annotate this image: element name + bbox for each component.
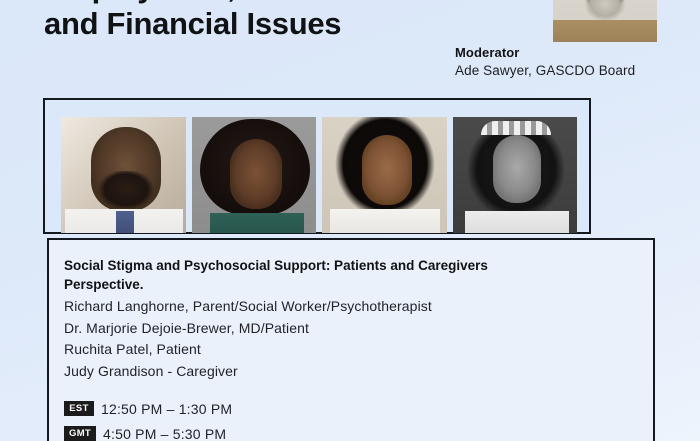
moderator-block: Moderator Ade Sawyer, GASCDO Board <box>455 0 700 92</box>
page-title-line-2: and Financial Issues <box>44 5 514 42</box>
timezone-list: EST 12:50 PM – 1:30 PM GMT 4:50 PM – 5:3… <box>64 398 653 441</box>
moderator-collar-shape <box>553 20 657 42</box>
speaker-list: Richard Langhorne, Parent/Social Worker/… <box>64 296 653 382</box>
portrait-4-coat-shape <box>465 211 569 233</box>
portrait-4-headband-shape <box>481 121 551 135</box>
timezone-row: EST 12:50 PM – 1:30 PM <box>64 398 653 419</box>
timezone-badge-est: EST <box>64 401 94 416</box>
timezone-badge-gmt: GMT <box>64 426 96 441</box>
page-title: Employment, Education and Financial Issu… <box>44 0 514 42</box>
timezone-value-est: 12:50 PM – 1:30 PM <box>101 401 232 417</box>
portrait-2-face-shape <box>230 139 282 209</box>
panelist-photo-strip <box>61 117 577 233</box>
speaker-item: Judy Grandison - Caregiver <box>64 361 653 383</box>
session-title: Social Stigma and Psychosocial Support: … <box>64 256 534 294</box>
portrait-3-face-shape <box>362 135 412 205</box>
moderator-photo <box>553 0 657 42</box>
moderator-role-label: Moderator <box>455 45 519 60</box>
timezone-value-gmt: 4:50 PM – 5:30 PM <box>103 426 226 441</box>
speaker-item: Richard Langhorne, Parent/Social Worker/… <box>64 296 653 318</box>
portrait-3-coat-shape <box>330 209 440 233</box>
portrait-4-face-shape <box>493 135 541 203</box>
panelist-portrait-3 <box>322 117 447 233</box>
panelist-photo-panel <box>43 98 591 234</box>
speaker-item: Dr. Marjorie Dejoie-Brewer, MD/Patient <box>64 318 653 340</box>
portrait-1-tie-shape <box>116 211 134 233</box>
panelist-portrait-2 <box>192 117 317 233</box>
portrait-2-top-shape <box>210 213 304 233</box>
speaker-item: Ruchita Patel, Patient <box>64 339 653 361</box>
panelist-portrait-1 <box>61 117 186 233</box>
panelist-portrait-4 <box>453 117 578 233</box>
timezone-row: GMT 4:50 PM – 5:30 PM <box>64 423 653 441</box>
header: Employment, Education and Financial Issu… <box>0 0 700 92</box>
moderator-name: Ade Sawyer, GASCDO Board <box>455 63 635 78</box>
session-details-panel: Social Stigma and Psychosocial Support: … <box>47 238 655 441</box>
